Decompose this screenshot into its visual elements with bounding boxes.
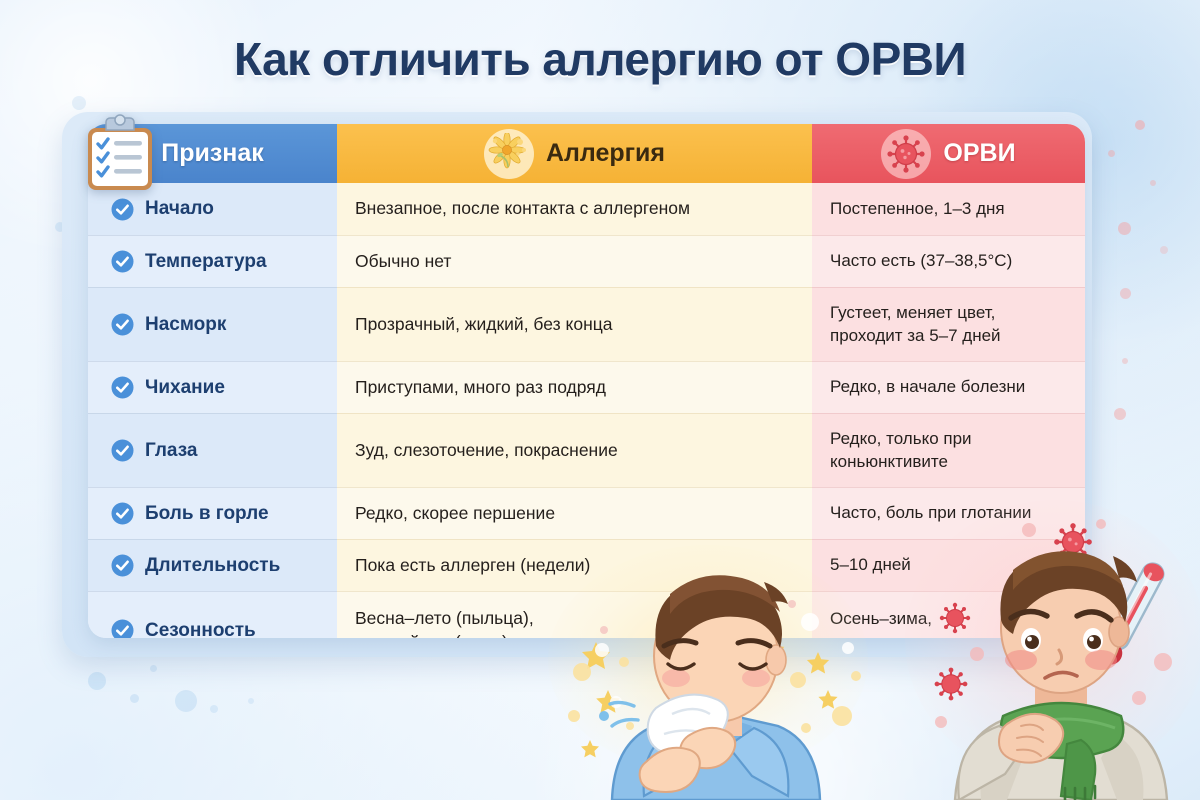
decorative-dot [1114, 408, 1126, 420]
check-circle-icon [110, 439, 134, 463]
header-cell-allergy: Аллергия [337, 124, 812, 183]
allergy-cell: Редко, скорее першение [337, 487, 812, 539]
infographic-canvas: Как отличить аллергию от ОРВИ Признак [0, 0, 1200, 800]
allergy-cell: Внезапное, после контакта с аллергеном [337, 183, 812, 235]
orvi-value: Густеет, меняет цвет, проходит за 5–7 дн… [830, 302, 1001, 347]
thermometer-icon [1095, 559, 1168, 668]
check-circle-icon [110, 376, 134, 400]
feature-label: Чихание [145, 377, 225, 399]
header-label-feature: Признак [161, 139, 264, 168]
allergy-value: Зуд, слезоточение, покраснение [355, 439, 618, 462]
allergy-value: Обычно нет [355, 250, 451, 273]
orvi-cell: 5–10 дней [812, 539, 1085, 591]
feature-cell: Сезонность [88, 591, 337, 638]
allergy-cell: Приступами, много раз подряд [337, 361, 812, 413]
flower-icon [484, 129, 534, 179]
decorative-dot [130, 694, 139, 703]
orvi-cell: Осень–зима, вспышки [812, 591, 1085, 638]
feature-label: Боль в горле [145, 503, 269, 525]
header-label-orvi: ОРВИ [943, 139, 1015, 168]
allergy-cell: Обычно нет [337, 235, 812, 287]
orvi-value: Осень–зима, вспышки [830, 608, 932, 638]
orvi-value: 5–10 дней [830, 554, 911, 577]
allergy-cell: Весна–лето (пыльца), круглый год (пыль) [337, 591, 812, 638]
feature-label: Глаза [145, 440, 197, 462]
decorative-dot [1160, 246, 1168, 254]
allergy-value: Пока есть аллерген (недели) [355, 554, 590, 577]
allergy-cell: Зуд, слезоточение, покраснение [337, 413, 812, 487]
orvi-cell: Редко, в начале болезни [812, 361, 1085, 413]
orvi-value: Постепенное, 1–3 дня [830, 198, 1005, 221]
header-cell-orvi: ОРВИ [812, 124, 1085, 183]
check-circle-icon [110, 554, 134, 578]
table-header-row: Признак [88, 124, 1085, 183]
allergy-cell: Прозрачный, жидкий, без конца [337, 287, 812, 361]
decorative-dot [175, 690, 197, 712]
feature-cell: Длительность [88, 539, 337, 591]
decorative-dot [150, 665, 157, 672]
orvi-cell: Часто есть (37–38,5°C) [812, 235, 1085, 287]
check-circle-icon [110, 619, 134, 639]
decorative-dot [1135, 120, 1145, 130]
check-circle-icon [110, 313, 134, 337]
virus-icon [881, 129, 931, 179]
check-circle-icon [110, 502, 134, 526]
allergy-value: Редко, скорее першение [355, 502, 555, 525]
orvi-cell: Постепенное, 1–3 дня [812, 183, 1085, 235]
orvi-cell: Густеет, меняет цвет, проходит за 5–7 дн… [812, 287, 1085, 361]
allergy-value: Весна–лето (пыльца), круглый год (пыль) [355, 607, 534, 638]
allergy-cell: Пока есть аллерген (недели) [337, 539, 812, 591]
feature-cell: Чихание [88, 361, 337, 413]
feature-label: Длительность [145, 555, 280, 577]
decorative-dot [1120, 288, 1131, 299]
decorative-dot [210, 705, 218, 713]
orvi-value: Часто, боль при глотании [830, 502, 1031, 525]
feature-cell: Глаза [88, 413, 337, 487]
column-orvi: Постепенное, 1–3 дня Часто есть (37–38,5… [812, 183, 1085, 638]
orvi-value: Редко, только при коньюнктивите [830, 428, 972, 473]
allergy-value: Приступами, много раз подряд [355, 376, 606, 399]
header-label-allergy: Аллергия [546, 139, 665, 168]
allergy-value: Внезапное, после контакта с аллергеном [355, 197, 690, 220]
check-circle-icon [110, 250, 134, 274]
orvi-cell: Часто, боль при глотании [812, 487, 1085, 539]
page-title: Как отличить аллергию от ОРВИ [0, 32, 1200, 86]
decorative-dot [88, 672, 106, 690]
feature-label: Сезонность [145, 620, 256, 639]
feature-label: Температура [145, 251, 267, 273]
decorative-dot [1122, 358, 1128, 364]
column-feature: Начало Температура Насморк Чихание Глаза… [88, 183, 337, 638]
feature-cell: Насморк [88, 287, 337, 361]
allergy-value: Прозрачный, жидкий, без конца [355, 313, 613, 336]
table-body: Начало Температура Насморк Чихание Глаза… [88, 183, 1085, 638]
clipboard-icon [72, 108, 168, 204]
feature-cell: Боль в горле [88, 487, 337, 539]
orvi-value: Редко, в начале болезни [830, 376, 1025, 399]
comparison-table: Признак [88, 124, 1085, 638]
orvi-value: Часто есть (37–38,5°C) [830, 250, 1012, 273]
feature-cell: Температура [88, 235, 337, 287]
orvi-cell: Редко, только при коньюнктивите [812, 413, 1085, 487]
feature-label: Насморк [145, 314, 226, 336]
decorative-dot [248, 698, 254, 704]
column-allergy: Внезапное, после контакта с аллергеном О… [337, 183, 812, 638]
decorative-dot [1118, 222, 1131, 235]
decorative-dot [1150, 180, 1156, 186]
decorative-dot [1108, 150, 1115, 157]
